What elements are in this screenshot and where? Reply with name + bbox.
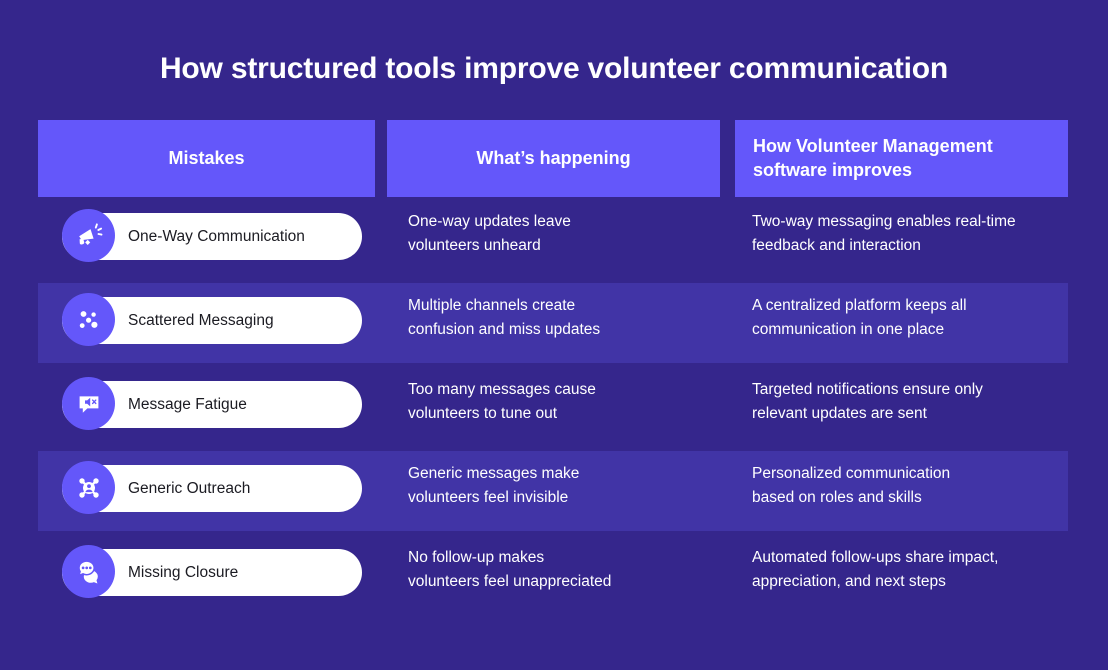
table-row: Generic Outreach Generic messages make v…	[0, 449, 1108, 533]
column-header-mistakes: Mistakes	[38, 120, 375, 197]
column-header-whats-happening: What’s happening	[387, 120, 720, 197]
mistake-label: One-Way Communication	[128, 228, 305, 246]
chat-bubbles-icon	[62, 545, 115, 598]
table-row: Missing Closure No follow-up makes volun…	[0, 533, 1108, 617]
table-row: Message Fatigue Too many messages cause …	[0, 365, 1108, 449]
muted-speaker-bubble-icon	[62, 377, 115, 430]
improves-text: Automated follow-ups share impact, appre…	[752, 546, 1072, 593]
table-row: One-Way Communication One-way updates le…	[0, 197, 1108, 281]
happening-text: Multiple channels create confusion and m…	[408, 294, 728, 341]
mistake-label: Missing Closure	[128, 564, 238, 582]
megaphone-icon	[62, 209, 115, 262]
scattered-dots-icon	[62, 293, 115, 346]
table-row: Scattered Messaging Multiple channels cr…	[0, 281, 1108, 365]
network-user-icon	[62, 461, 115, 514]
happening-text: No follow-up makes volunteers feel unapp…	[408, 546, 728, 593]
improves-text: A centralized platform keeps all communi…	[752, 294, 1072, 341]
infographic-canvas: How structured tools improve volunteer c…	[0, 0, 1108, 670]
mistake-label: Generic Outreach	[128, 480, 250, 498]
page-title: How structured tools improve volunteer c…	[0, 52, 1108, 86]
improves-text: Targeted notifications ensure only relev…	[752, 378, 1072, 425]
improves-text: Two-way messaging enables real-time feed…	[752, 210, 1072, 257]
mistake-label: Message Fatigue	[128, 396, 247, 414]
happening-text: One-way updates leave volunteers unheard	[408, 210, 728, 257]
column-header-software-improves: How Volunteer Management software improv…	[735, 120, 1068, 197]
mistake-label: Scattered Messaging	[128, 312, 274, 330]
happening-text: Generic messages make volunteers feel in…	[408, 462, 728, 509]
improves-text: Personalized communication based on role…	[752, 462, 1072, 509]
happening-text: Too many messages cause volunteers to tu…	[408, 378, 728, 425]
